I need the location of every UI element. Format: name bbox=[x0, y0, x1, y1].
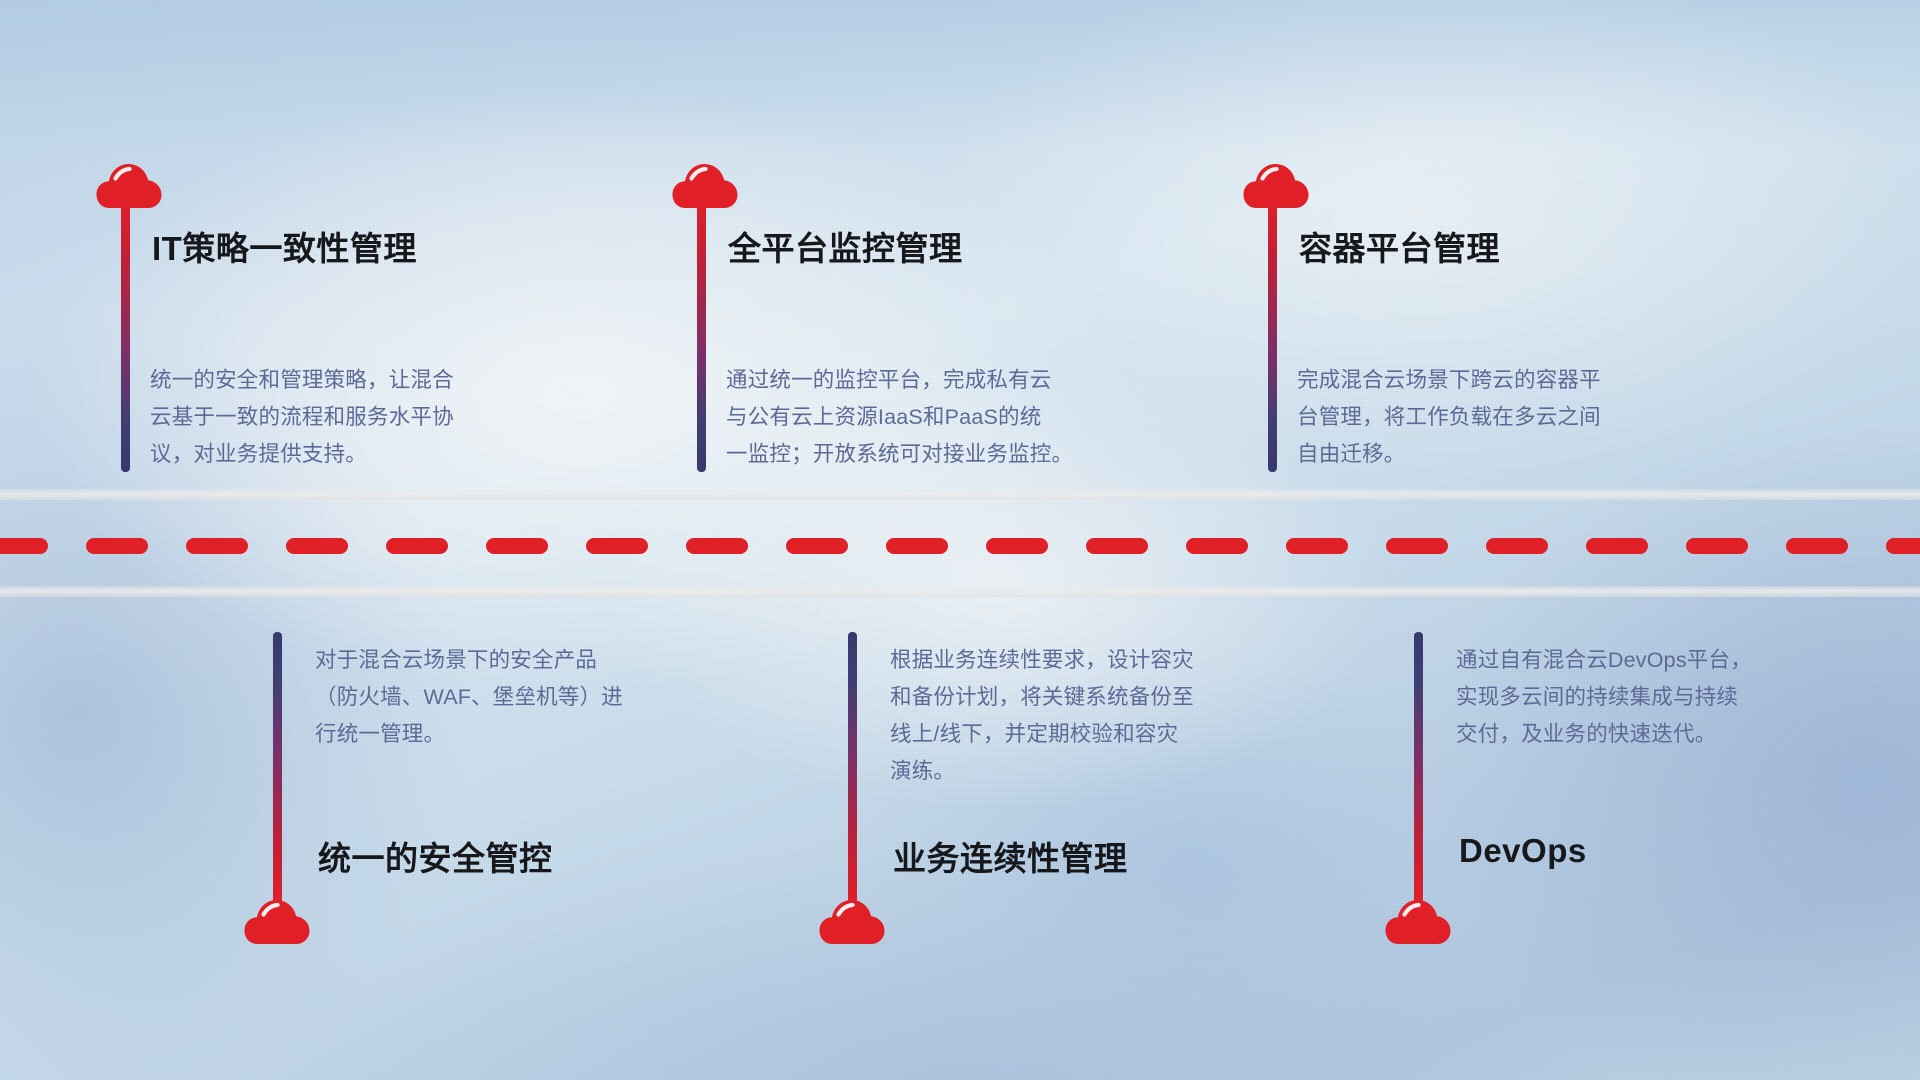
divider-dash bbox=[86, 538, 148, 554]
divider-dash bbox=[586, 538, 648, 554]
divider-dash bbox=[986, 538, 1048, 554]
divider-dash bbox=[1286, 538, 1348, 554]
divider-dashed-line bbox=[0, 538, 1920, 554]
divider-dash bbox=[686, 538, 748, 554]
connector-stem bbox=[848, 632, 857, 904]
card-title: DevOps bbox=[1459, 832, 1587, 870]
card-body-text: 对于混合云场景下的安全产品 （防火墙、WAF、堡垒机等）进 行统一管理。 bbox=[315, 642, 675, 753]
infographic-canvas: IT策略一致性管理 统一的安全和管理策略，让混合 云基于一致的流程和服务水平协 … bbox=[0, 0, 1920, 1080]
divider-dash bbox=[786, 538, 848, 554]
connector-stem bbox=[1414, 632, 1423, 904]
divider-dash bbox=[1686, 538, 1748, 554]
divider-dash bbox=[286, 538, 348, 554]
card-title: 统一的安全管控 bbox=[318, 832, 553, 880]
card-title: 业务连续性管理 bbox=[893, 832, 1128, 880]
card-body-text: 根据业务连续性要求，设计容灾 和备份计划，将关键系统备份至 线上/线下，并定期校… bbox=[890, 642, 1250, 790]
divider-dash bbox=[1486, 538, 1548, 554]
divider-dash bbox=[486, 538, 548, 554]
cloud-icon bbox=[1385, 898, 1451, 946]
card-title: 容器平台管理 bbox=[1299, 222, 1500, 270]
divider-dash bbox=[386, 538, 448, 554]
connector-stem bbox=[273, 632, 282, 904]
divider-dash bbox=[186, 538, 248, 554]
divider-dash bbox=[1886, 538, 1920, 554]
cloud-icon bbox=[244, 898, 310, 946]
divider-dash bbox=[1786, 538, 1848, 554]
card-body-text: 通过自有混合云DevOps平台， 实现多云间的持续集成与持续 交付，及业务的快速… bbox=[1456, 642, 1816, 753]
connector-stem bbox=[1268, 200, 1277, 472]
card-body-text: 统一的安全和管理策略，让混合 云基于一致的流程和服务水平协 议，对业务提供支持。 bbox=[150, 362, 510, 473]
card-title: 全平台监控管理 bbox=[728, 222, 963, 270]
card-body-text: 通过统一的监控平台，完成私有云 与公有云上资源IaaS和PaaS的统 一监控；开… bbox=[726, 362, 1086, 473]
divider-band-bottom bbox=[0, 586, 1920, 597]
divider-dash bbox=[1586, 538, 1648, 554]
divider-dash bbox=[0, 538, 48, 554]
card-title: IT策略一致性管理 bbox=[152, 222, 417, 270]
connector-stem bbox=[121, 200, 130, 472]
divider-dash bbox=[886, 538, 948, 554]
divider-dash bbox=[1386, 538, 1448, 554]
cloud-icon bbox=[819, 898, 885, 946]
divider-band-top bbox=[0, 489, 1920, 500]
card-body-text: 完成混合云场景下跨云的容器平 台管理，将工作负载在多云之间 自由迁移。 bbox=[1297, 362, 1657, 473]
divider-dash bbox=[1086, 538, 1148, 554]
connector-stem bbox=[697, 200, 706, 472]
divider-dash bbox=[1186, 538, 1248, 554]
